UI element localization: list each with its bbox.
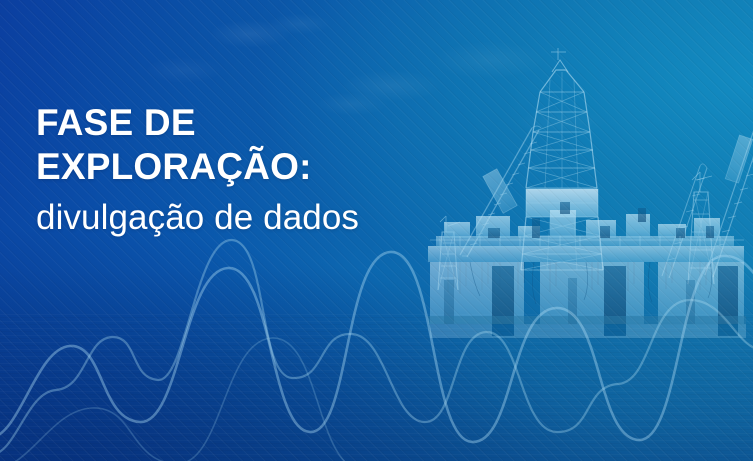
promo-banner: FASE DE EXPLORAÇÃO: divulgação de dados — [0, 0, 753, 461]
headline-line-1: FASE DE — [36, 101, 456, 145]
page-subtitle: divulgação de dados — [36, 198, 456, 238]
page-title: FASE DE EXPLORAÇÃO: — [36, 101, 456, 189]
headline-line-2: EXPLORAÇÃO: — [36, 145, 456, 189]
banner-text-block: FASE DE EXPLORAÇÃO: divulgação de dados — [36, 101, 456, 238]
